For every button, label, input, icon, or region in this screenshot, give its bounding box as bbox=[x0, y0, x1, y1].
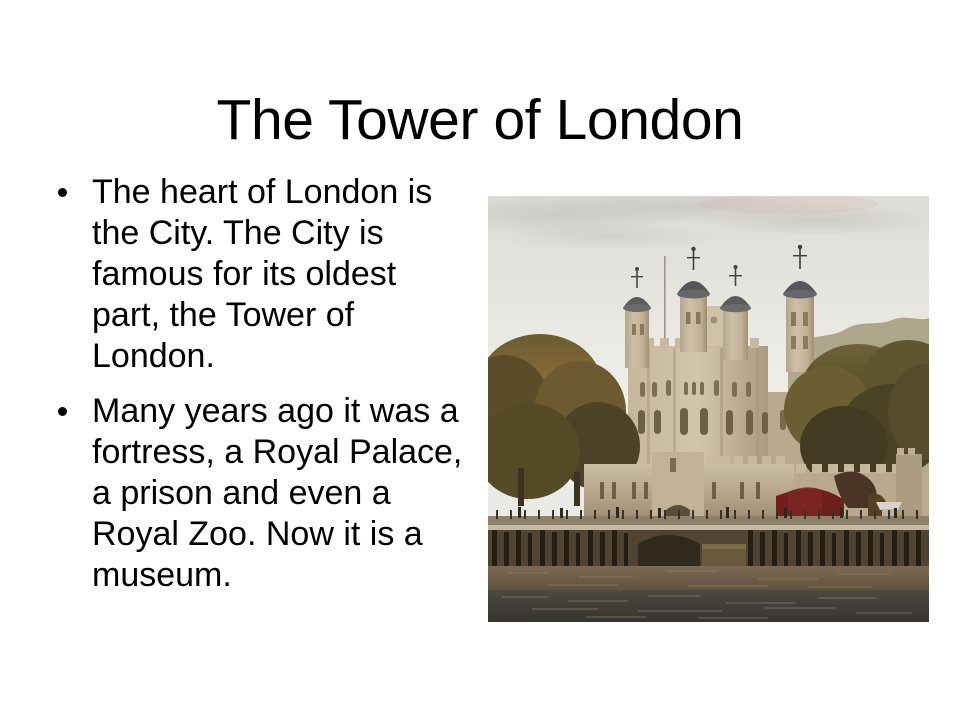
bullet-text: The heart of London is the City. The Cit… bbox=[92, 172, 464, 377]
list-item: The heart of London is the City. The Cit… bbox=[44, 172, 464, 377]
list-item: Many years ago it was a fortress, a Roya… bbox=[44, 391, 464, 596]
tower-of-london-photograph bbox=[488, 196, 929, 622]
bullet-text: Many years ago it was a fortress, a Roya… bbox=[92, 391, 464, 596]
bullet-list: The heart of London is the City. The Cit… bbox=[44, 172, 464, 610]
presentation-slide: The Tower of London The heart of London … bbox=[0, 0, 960, 720]
bullet-dot-icon bbox=[58, 188, 67, 197]
page-title: The Tower of London bbox=[0, 90, 960, 150]
bullet-dot-icon bbox=[58, 407, 67, 416]
